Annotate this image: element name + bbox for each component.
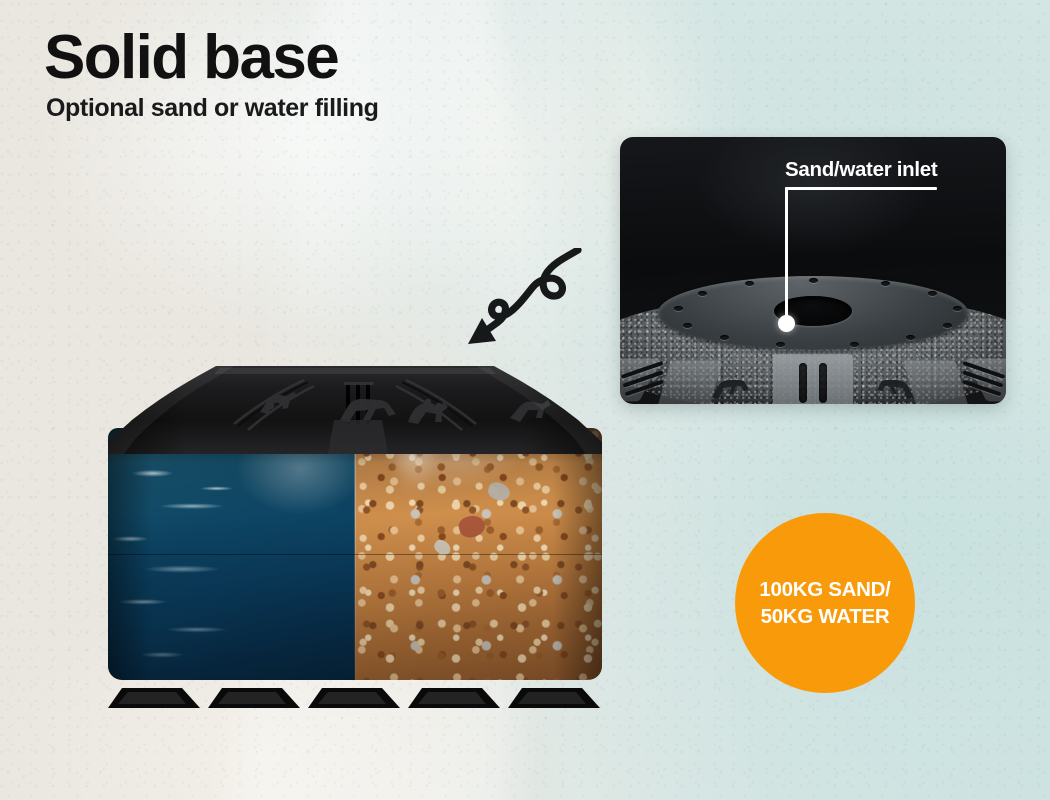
body-panel-line [108,554,602,555]
promo-banner: Solid base Optional sand or water fillin… [0,0,1050,800]
drain-slot [799,363,807,403]
dog-silhouette-icon [706,372,752,402]
capacity-line-1: 100KG SAND/ [759,578,890,601]
page-subtitle: Optional sand or water filling [46,94,378,123]
capacity-badge-text: 100KG SAND/50KG WATER [759,576,890,630]
callout-line-horizontal [785,187,937,190]
product-body-fill [108,428,602,680]
rim-vent-group [952,364,1006,398]
rim-vent-group [620,364,674,398]
capacity-line-2: 50KG WATER [761,605,890,628]
inlet-detail-panel: Sand/water inlet [620,137,1006,404]
curly-arrow-icon [452,248,582,358]
drain-slot [819,363,827,403]
product-feet [108,678,602,712]
callout-line-vertical [785,187,788,324]
product-top-cap [108,362,602,454]
product-image [108,362,602,712]
page-title: Solid base [44,26,338,89]
capacity-badge: 100KG SAND/50KG WATER [735,513,915,693]
callout-label: Sand/water inlet [785,158,937,182]
inlet-point-marker [778,315,795,332]
dog-silhouette-icon [874,372,920,402]
base-plate-photo [620,272,1006,404]
centre-slot-pad [773,354,853,404]
base-plate-top-disc [658,276,968,350]
